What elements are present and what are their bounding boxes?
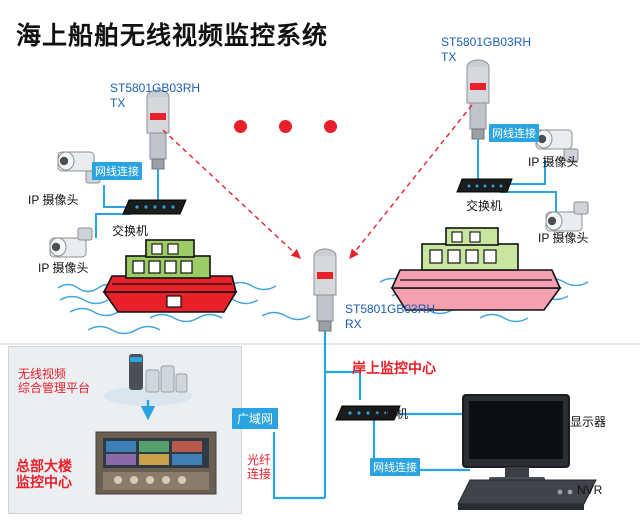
monitor-label: 显示器 (570, 416, 606, 430)
signal-dot-1 (234, 120, 247, 133)
hq-center-label: 总部大楼 监控中心 (16, 458, 72, 490)
right-switch-label: 交换机 (466, 200, 502, 214)
ship-left-art (104, 240, 236, 312)
signal-dot-2 (279, 120, 292, 133)
ship-right-art (392, 228, 560, 310)
shore-switch-label: 交换机 (372, 408, 408, 422)
right-camera-top-label: IP 摄像头 (528, 156, 578, 170)
right-camera-bottom-label: IP 摄像头 (538, 232, 588, 246)
wan-badge: 广域网 (232, 408, 278, 429)
monitor-art (463, 395, 569, 483)
camera-right-bottom-art (546, 202, 588, 231)
left-camera-bottom-label: IP 摄像头 (38, 262, 88, 276)
nvr-art (458, 480, 596, 510)
fiber-label: 光纤 连接 (247, 454, 271, 482)
tx-left-model-label: ST5801GB03RH (110, 82, 200, 96)
platform-label: 无线视频 综合管理平台 (18, 368, 90, 396)
switch-right-art (457, 179, 512, 192)
left-net-cable-badge: 网线连接 (92, 162, 142, 180)
left-switch-label: 交换机 (112, 225, 148, 239)
tx-left-role-label: TX (110, 97, 125, 111)
switch-left-art (123, 200, 186, 214)
camera-left-bottom-art (50, 228, 92, 257)
signal-dot-3 (324, 120, 337, 133)
tx-right-model-label: ST5801GB03RH (441, 36, 531, 50)
nvr-label: NVR (577, 484, 602, 498)
diagram-canvas: 海上船舶无线视频监控系统 ST5801GB03RH TX ST5801GB03R… (0, 0, 640, 522)
tx-right-role-label: TX (441, 51, 456, 65)
rx-role-label: RX (345, 318, 362, 332)
left-camera-top-label: IP 摄像头 (28, 194, 78, 208)
rx-model-label: ST5801GB03RH (345, 303, 435, 317)
antenna-rx-art (314, 249, 336, 331)
bottom-net-cable-badge: 网线连接 (370, 458, 420, 476)
right-net-cable-badge: 网线连接 (489, 124, 539, 142)
shore-center-label: 岸上监控中心 (352, 360, 436, 376)
page-title: 海上船舶无线视频监控系统 (16, 22, 328, 51)
